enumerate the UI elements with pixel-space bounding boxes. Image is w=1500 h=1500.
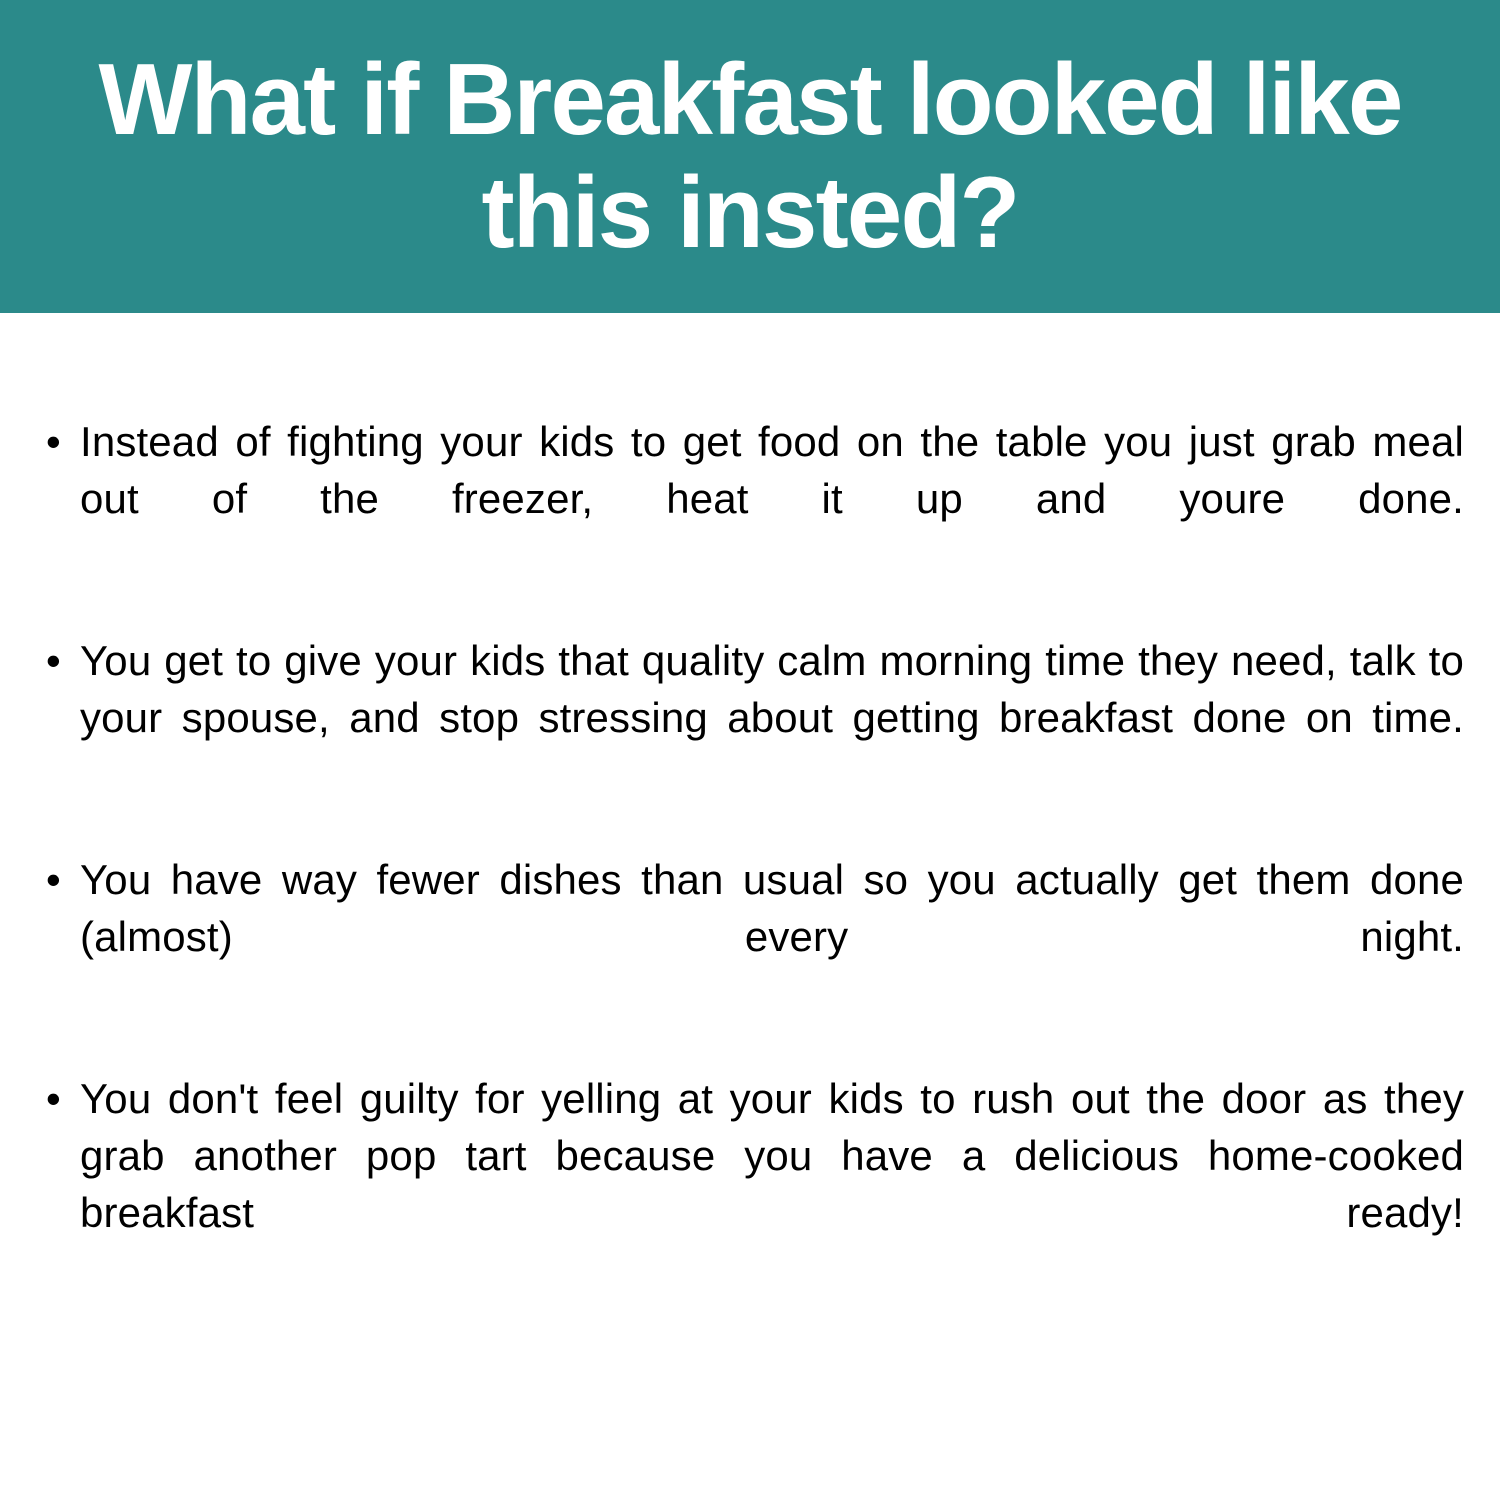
list-item: • You get to give your kids that quality… <box>36 632 1464 803</box>
list-item-text: You have way fewer dishes than usual so … <box>80 851 1464 1022</box>
body-content-area: • Instead of fighting your kids to get f… <box>0 313 1500 1500</box>
list-item: • You have way fewer dishes than usual s… <box>36 851 1464 1022</box>
bullet-list: • Instead of fighting your kids to get f… <box>36 413 1464 1298</box>
list-item-text: You get to give your kids that quality c… <box>80 632 1464 803</box>
list-item: • You don't feel guilty for yelling at y… <box>36 1070 1464 1298</box>
bullet-dot-icon: • <box>46 632 70 689</box>
bullet-dot-icon: • <box>46 1070 70 1127</box>
list-item-text: Instead of fighting your kids to get foo… <box>80 413 1464 584</box>
header-banner: What if Breakfast looked like this inste… <box>0 0 1500 313</box>
page-title: What if Breakfast looked like this inste… <box>39 44 1461 270</box>
list-item: • Instead of fighting your kids to get f… <box>36 413 1464 584</box>
slide-root: What if Breakfast looked like this inste… <box>0 0 1500 1500</box>
bullet-dot-icon: • <box>46 851 70 908</box>
list-item-text: You don't feel guilty for yelling at you… <box>80 1070 1464 1298</box>
bullet-dot-icon: • <box>46 413 70 470</box>
